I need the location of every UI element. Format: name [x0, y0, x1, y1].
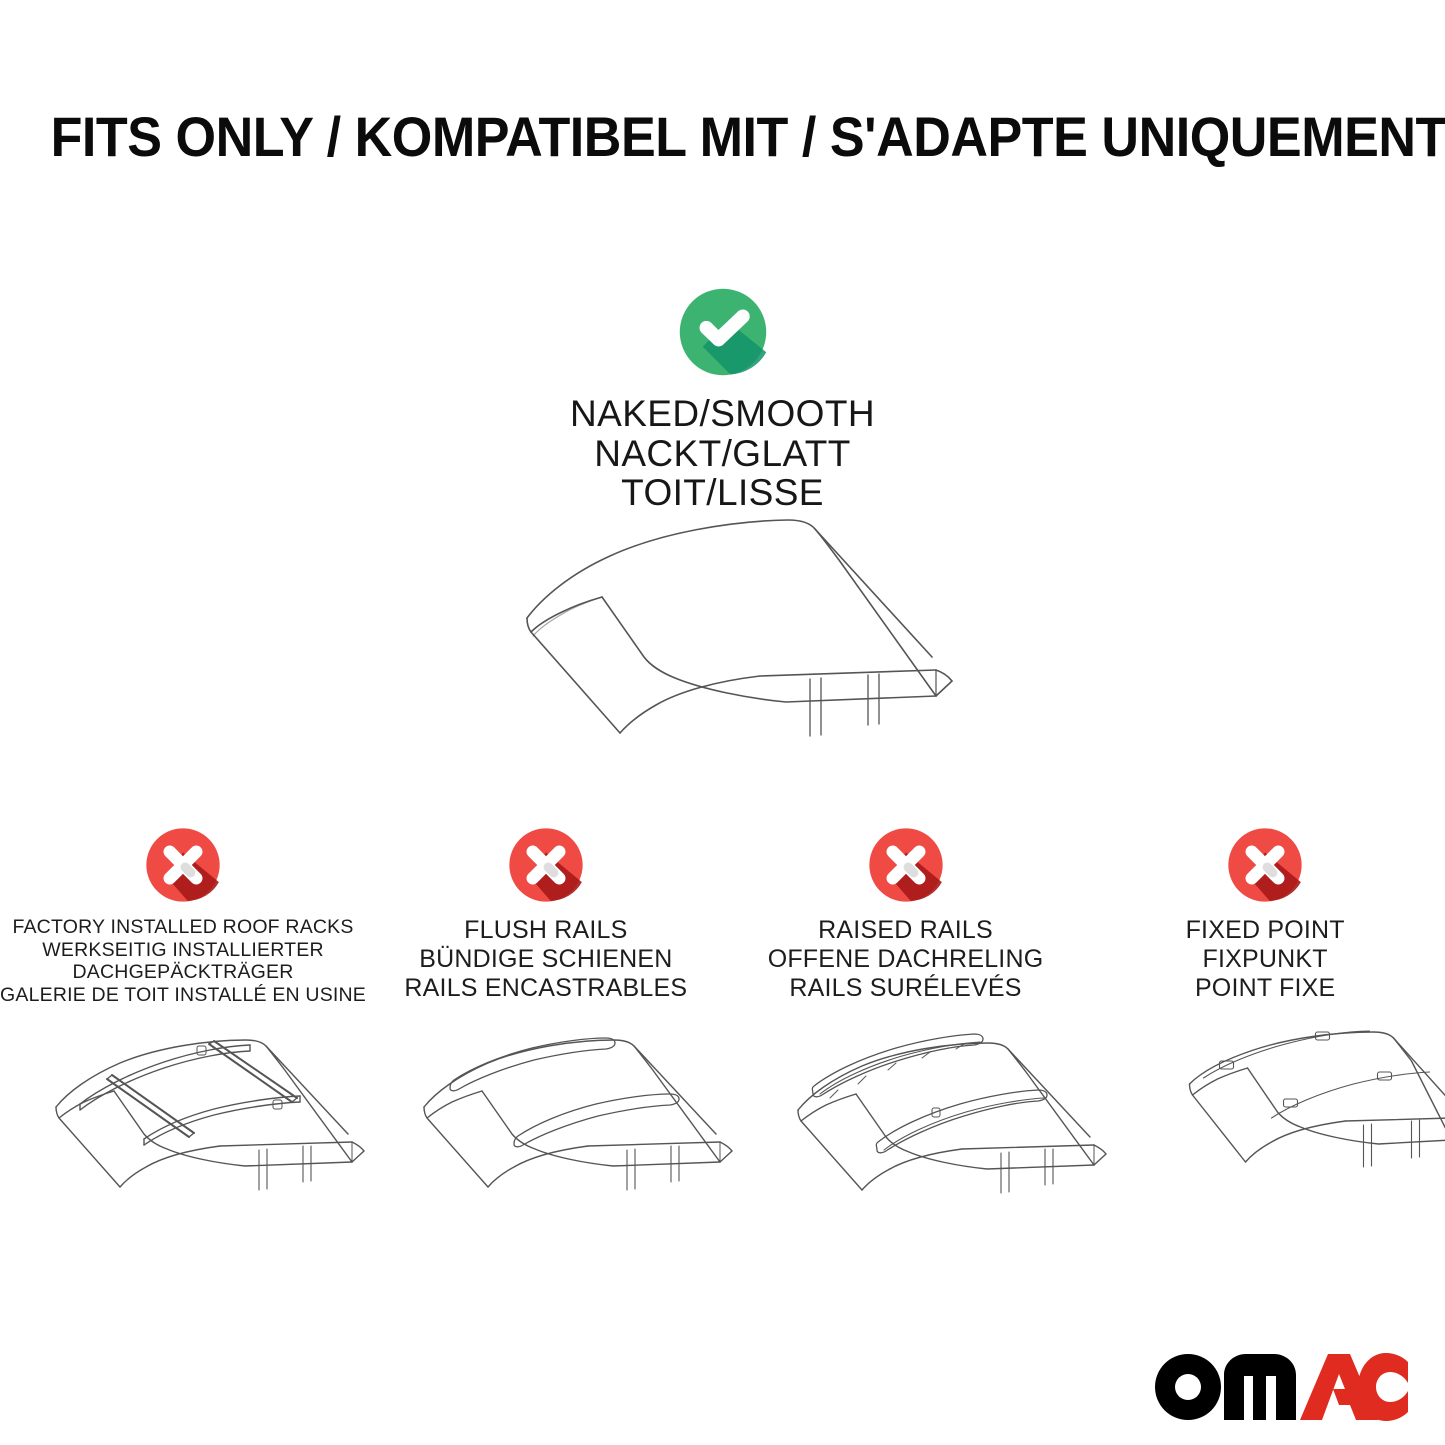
nofit-label-en: FLUSH RAILS	[404, 916, 687, 945]
fits-label-de: NACKT/GLATT	[570, 434, 875, 474]
fits-label-en: NAKED/SMOOTH	[570, 394, 875, 434]
x-circle-icon	[867, 826, 945, 904]
nofit-label-en: FIXED POINT	[1186, 916, 1345, 945]
nofit-label-en: RAISED RAILS	[768, 916, 1044, 945]
nofit-label-de-2: DACHGEPÄCKTRÄGER	[0, 961, 366, 984]
fitment-guide-page: FITS ONLY / KOMPATIBEL MIT / S'ADAPTE UN…	[0, 0, 1445, 1445]
car-roof-flush-rails-illustration	[414, 1022, 784, 1247]
nofit-label-de: BÜNDIGE SCHIENEN	[404, 945, 687, 974]
does-not-fit-section: FACTORY INSTALLED ROOF RACKS WERKSEITIG …	[0, 826, 1445, 1006]
nofit-label-de: FIXPUNKT	[1186, 945, 1345, 974]
fits-section: NAKED/SMOOTH NACKT/GLATT TOIT/LISSE	[0, 286, 1445, 513]
page-title: FITS ONLY / KOMPATIBEL MIT / S'ADAPTE UN…	[51, 104, 1395, 169]
car-roof-fixed-point-illustration	[1146, 1022, 1445, 1247]
car-roof-factory-rack-illustration	[28, 1022, 398, 1247]
nofit-label-fr: RAILS ENCASTRABLES	[404, 974, 687, 1003]
nofit-label-de: OFFENE DACHRELING	[768, 945, 1044, 974]
car-roof-raised-rails-illustration	[784, 1022, 1154, 1247]
nofit-label-fr: GALERIE DE TOIT INSTALLÉ EN USINE	[0, 984, 366, 1007]
nofit-label-de-1: WERKSEITIG INSTALLIERTER	[0, 939, 366, 962]
nofit-label-fr: RAILS SURÉLEVÉS	[768, 974, 1044, 1003]
omac-logo	[1150, 1345, 1410, 1423]
nofit-item-fixed-point: FIXED POINT FIXPUNKT POINT FIXE	[1085, 826, 1445, 1006]
x-circle-icon	[1226, 826, 1304, 904]
nofit-label-group: RAISED RAILS OFFENE DACHRELING RAILS SUR…	[768, 916, 1044, 1003]
nofit-label-group: FLUSH RAILS BÜNDIGE SCHIENEN RAILS ENCAS…	[404, 916, 687, 1003]
fits-label-group: NAKED/SMOOTH NACKT/GLATT TOIT/LISSE	[570, 394, 875, 513]
nofit-label-en: FACTORY INSTALLED ROOF RACKS	[0, 916, 366, 939]
car-roof-naked-smooth-illustration	[470, 500, 1000, 750]
nofit-item-factory-rack: FACTORY INSTALLED ROOF RACKS WERKSEITIG …	[0, 826, 366, 1006]
x-circle-icon	[144, 826, 222, 904]
x-circle-icon	[507, 826, 585, 904]
nofit-label-group: FIXED POINT FIXPUNKT POINT FIXE	[1186, 916, 1345, 1003]
nofit-label-fr: POINT FIXE	[1186, 974, 1345, 1003]
nofit-item-flush-rails: FLUSH RAILS BÜNDIGE SCHIENEN RAILS ENCAS…	[366, 826, 726, 1006]
nofit-label-group: FACTORY INSTALLED ROOF RACKS WERKSEITIG …	[0, 916, 366, 1006]
check-circle-icon	[677, 286, 769, 378]
nofit-item-raised-rails: RAISED RAILS OFFENE DACHRELING RAILS SUR…	[726, 826, 1086, 1006]
